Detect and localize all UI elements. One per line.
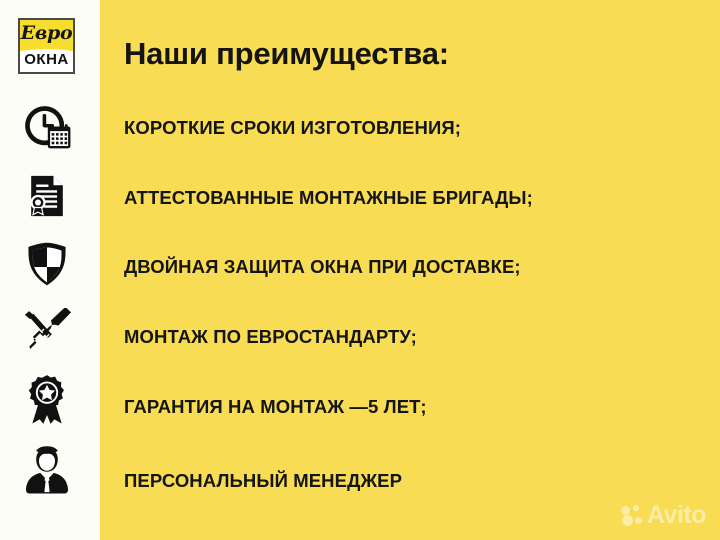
award-rosette-icon [19,372,75,428]
advertisement-poster: Евро ОКНА [0,0,720,540]
manager-person-icon [19,443,75,499]
shield-icon [19,236,75,292]
avito-logo-icon [621,505,643,527]
icon-rail: Евро ОКНА [0,0,100,540]
clock-calendar-icon [19,100,75,156]
tools-icon [19,304,75,360]
benefit-item-6: ПЕРСОНАЛЬНЫЙ МЕНЕДЖЕР [124,470,402,492]
logo-evro-text: Евро [20,22,73,44]
page-title: Наши преимущества: [124,36,449,72]
benefit-item-1: КОРОТКИЕ СРОКИ ИЗГОТОВЛЕНИЯ; [124,117,461,139]
logo-okna-text: ОКНА [20,51,73,68]
avito-watermark: Avito [621,503,706,528]
avito-wordmark: Avito [647,503,706,528]
certificate-icon [19,168,75,224]
benefit-item-3: ДВОЙНАЯ ЗАЩИТА ОКНА ПРИ ДОСТАВКЕ; [124,256,521,278]
company-logo: Евро ОКНА [18,18,75,74]
benefit-item-5: ГАРАНТИЯ НА МОНТАЖ —5 ЛЕТ; [124,396,427,418]
benefit-item-2: АТТЕСТОВАННЫЕ МОНТАЖНЫЕ БРИГАДЫ; [124,187,533,209]
benefit-item-4: МОНТАЖ ПО ЕВРОСТАНДАРТУ; [124,326,417,348]
